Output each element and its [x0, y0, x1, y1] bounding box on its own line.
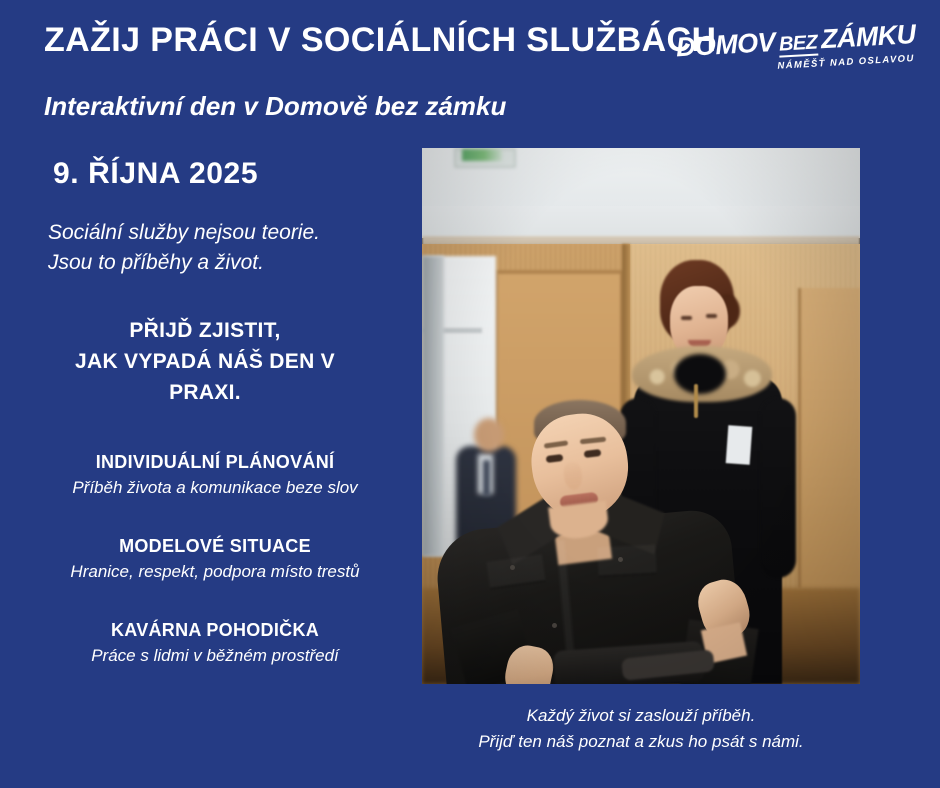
page-subtitle: Interaktivní den v Domově bez zámku [44, 89, 506, 123]
logo-word-zamku: ZÁMKU [820, 20, 916, 54]
program-item-title: KAVÁRNA POHODIČKA [20, 618, 410, 642]
photo-woman-eye-left [681, 316, 692, 320]
photo-man-pocket-right [597, 545, 656, 578]
photo-man-button-3 [552, 623, 557, 628]
caption-line-1: Každý život si zaslouží příběh. [422, 703, 860, 729]
poster-header: ZAŽIJ PRÁCI V SOCIÁLNÍCH SLUŽBÁCH Intera… [0, 0, 940, 140]
photo-man-button-2 [618, 557, 623, 562]
tagline-line-2: Jsou to příběhy a život. [48, 248, 320, 278]
photo-woman-collar-opening [674, 354, 726, 394]
photo-caption: Každý život si zaslouží příběh. Přijď te… [422, 703, 860, 755]
program-item-title: MODELOVÉ SITUACE [20, 534, 410, 558]
program-item-description: Hranice, respekt, podpora místo trestů [60, 560, 370, 584]
list-item: INDIVIDUÁLNÍ PLÁNOVÁNÍ Příběh života a k… [20, 450, 410, 500]
tagline: Sociální služby nejsou teorie. Jsou to p… [48, 218, 320, 278]
caption-line-2: Přijď ten náš poznat a zkus ho psát s ná… [422, 729, 860, 755]
photo-illustration [422, 148, 860, 684]
poster: ZAŽIJ PRÁCI V SOCIÁLNÍCH SLUŽBÁCH Intera… [0, 0, 940, 788]
left-column: 9. ŘÍJNA 2025 Sociální služby nejsou teo… [0, 140, 410, 788]
logo-word-bez: BEZ [778, 33, 817, 58]
photo-right-door [798, 288, 860, 588]
page-title: ZAŽIJ PRÁCI V SOCIÁLNÍCH SLUŽBÁCH [44, 20, 716, 60]
program-list: INDIVIDUÁLNÍ PLÁNOVÁNÍ Příběh života a k… [20, 450, 410, 668]
program-item-title: INDIVIDUÁLNÍ PLÁNOVÁNÍ [20, 450, 410, 474]
tagline-line-1: Sociální služby nejsou teorie. [48, 218, 320, 248]
program-item-description: Příběh života a komunikace beze slov [60, 476, 370, 500]
photo-background-person-head [474, 418, 504, 452]
cta-line-3: PRAXI. [30, 377, 380, 408]
event-photo [422, 148, 860, 684]
program-item-description: Práce s lidmi v běžném prostředí [60, 644, 370, 668]
photo-window-frame [422, 256, 444, 556]
logo-word-domov: DOMOV [675, 28, 775, 62]
event-date: 9. ŘÍJNA 2025 [53, 156, 258, 192]
list-item: KAVÁRNA POHODIČKA Práce s lidmi v běžném… [20, 618, 410, 668]
photo-wall [422, 206, 860, 238]
cta-line-1: PŘIJĎ ZJISTIT, [30, 315, 380, 346]
call-to-action: PŘIJĎ ZJISTIT, JAK VYPADÁ NÁŠ DEN V PRAX… [30, 315, 380, 408]
photo-woman-name-badge [726, 425, 753, 465]
organization-logo: DOMOV BEZ ZÁMKU NÁMĚŠŤ NAD OSLAVOU [723, 20, 918, 83]
cta-line-2: JAK VYPADÁ NÁŠ DEN V [30, 346, 380, 377]
photo-exit-sign-glyph [462, 149, 502, 161]
photo-background-person-tie [483, 460, 490, 496]
photo-woman-arm-right [760, 398, 796, 578]
photo-woman-zipper [694, 384, 698, 418]
photo-man-button-1 [510, 565, 515, 570]
list-item: MODELOVÉ SITUACE Hranice, respekt, podpo… [20, 534, 410, 584]
photo-woman-eye-right [706, 314, 717, 318]
